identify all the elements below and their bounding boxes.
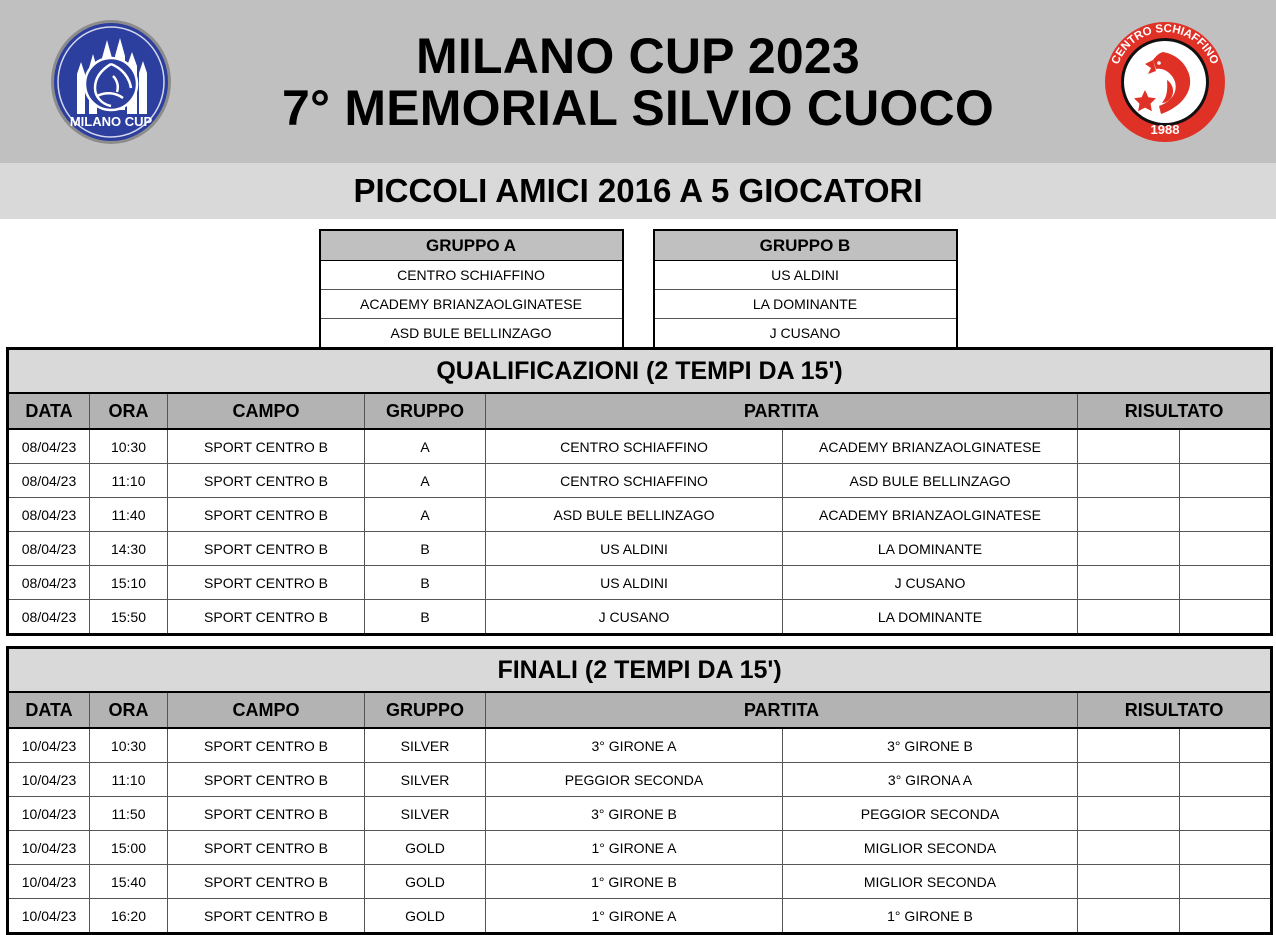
table-row: 08/04/23 15:10 SPORT CENTRO B B US ALDIN… <box>8 566 1272 600</box>
cell-campo: SPORT CENTRO B <box>168 532 365 566</box>
cell-campo: SPORT CENTRO B <box>168 728 365 763</box>
cell-home-team: PEGGIOR SECONDA <box>486 763 783 797</box>
cell-away-team: MIGLIOR SECONDA <box>783 865 1078 899</box>
group-a-team: ASD BULE BELLINZAGO <box>320 319 623 349</box>
cell-gruppo: SILVER <box>365 763 486 797</box>
cell-result-away[interactable] <box>1180 831 1272 865</box>
cell-home-team: 3° GIRONE B <box>486 797 783 831</box>
cell-home-team: 1° GIRONE B <box>486 865 783 899</box>
cell-home-team: ASD BULE BELLINZAGO <box>486 498 783 532</box>
cell-data: 08/04/23 <box>8 566 90 600</box>
cell-home-team: CENTRO SCHIAFFINO <box>486 464 783 498</box>
cell-ora: 15:00 <box>90 831 168 865</box>
table-row: 08/04/23 14:30 SPORT CENTRO B B US ALDIN… <box>8 532 1272 566</box>
cell-data: 08/04/23 <box>8 498 90 532</box>
cell-result-home[interactable] <box>1078 566 1180 600</box>
cell-result-away[interactable] <box>1180 566 1272 600</box>
cell-ora: 11:40 <box>90 498 168 532</box>
milano-cup-logo: MILANO CUP <box>47 18 175 146</box>
table-row: 10/04/23 10:30 SPORT CENTRO B SILVER 3° … <box>8 728 1272 763</box>
cell-gruppo: A <box>365 429 486 464</box>
cell-data: 08/04/23 <box>8 532 90 566</box>
col-campo: CAMPO <box>168 393 365 429</box>
table-row: 08/04/23 10:30 SPORT CENTRO B A CENTRO S… <box>8 429 1272 464</box>
cell-data: 10/04/23 <box>8 899 90 934</box>
cell-gruppo: A <box>365 498 486 532</box>
cell-ora: 14:30 <box>90 532 168 566</box>
col-gruppo: GRUPPO <box>365 393 486 429</box>
cell-away-team: LA DOMINANTE <box>783 532 1078 566</box>
cell-result-home[interactable] <box>1078 865 1180 899</box>
cell-campo: SPORT CENTRO B <box>168 464 365 498</box>
cell-data: 08/04/23 <box>8 429 90 464</box>
cell-away-team: 3° GIRONE B <box>783 728 1078 763</box>
col-ora: ORA <box>90 692 168 728</box>
table-row: 10/04/23 15:00 SPORT CENTRO B GOLD 1° GI… <box>8 831 1272 865</box>
cell-data: 10/04/23 <box>8 728 90 763</box>
table-row: 10/04/23 11:50 SPORT CENTRO B SILVER 3° … <box>8 797 1272 831</box>
cell-away-team: PEGGIOR SECONDA <box>783 797 1078 831</box>
col-campo: CAMPO <box>168 692 365 728</box>
cell-away-team: J CUSANO <box>783 566 1078 600</box>
group-a-team: CENTRO SCHIAFFINO <box>320 261 623 290</box>
cell-ora: 10:30 <box>90 728 168 763</box>
cell-campo: SPORT CENTRO B <box>168 865 365 899</box>
group-table-b: GRUPPO B US ALDINI LA DOMINANTE J CUSANO <box>653 229 958 349</box>
finali-rows: 10/04/23 10:30 SPORT CENTRO B SILVER 3° … <box>8 728 1272 934</box>
centro-schiaffino-crest: CENTRO SCHIAFFINO 1988 <box>1101 18 1229 146</box>
cell-result-home[interactable] <box>1078 831 1180 865</box>
col-risultato: RISULTATO <box>1078 393 1272 429</box>
cell-data: 08/04/23 <box>8 600 90 635</box>
table-row: 10/04/23 16:20 SPORT CENTRO B GOLD 1° GI… <box>8 899 1272 934</box>
cell-data: 10/04/23 <box>8 763 90 797</box>
cell-campo: SPORT CENTRO B <box>168 600 365 635</box>
cell-result-away[interactable] <box>1180 797 1272 831</box>
col-ora: ORA <box>90 393 168 429</box>
cell-result-away[interactable] <box>1180 464 1272 498</box>
table-row: 10/04/23 15:40 SPORT CENTRO B GOLD 1° GI… <box>8 865 1272 899</box>
cell-campo: SPORT CENTRO B <box>168 831 365 865</box>
qualificazioni-table: QUALIFICAZIONI (2 TEMPI DA 15') DATA ORA… <box>6 347 1273 636</box>
category-subtitle: PICCOLI AMICI 2016 A 5 GIOCATORI <box>353 172 922 210</box>
col-data: DATA <box>8 692 90 728</box>
cell-gruppo: B <box>365 600 486 635</box>
crest-year: 1988 <box>1151 122 1180 137</box>
cell-result-home[interactable] <box>1078 532 1180 566</box>
cell-home-team: CENTRO SCHIAFFINO <box>486 429 783 464</box>
col-risultato: RISULTATO <box>1078 692 1272 728</box>
group-a-header: GRUPPO A <box>320 230 623 261</box>
cell-away-team: MIGLIOR SECONDA <box>783 831 1078 865</box>
cell-result-away[interactable] <box>1180 600 1272 635</box>
cell-result-away[interactable] <box>1180 429 1272 464</box>
col-gruppo: GRUPPO <box>365 692 486 728</box>
cell-result-home[interactable] <box>1078 464 1180 498</box>
cell-result-away[interactable] <box>1180 728 1272 763</box>
cell-home-team: 3° GIRONE A <box>486 728 783 763</box>
col-data: DATA <box>8 393 90 429</box>
cell-away-team: ACADEMY BRIANZAOLGINATESE <box>783 429 1078 464</box>
groups-area: GRUPPO A CENTRO SCHIAFFINO ACADEMY BRIAN… <box>0 219 1276 347</box>
cell-campo: SPORT CENTRO B <box>168 429 365 464</box>
cell-home-team: US ALDINI <box>486 532 783 566</box>
cell-campo: SPORT CENTRO B <box>168 899 365 934</box>
table-row: 08/04/23 15:50 SPORT CENTRO B B J CUSANO… <box>8 600 1272 635</box>
qualificazioni-section: QUALIFICAZIONI (2 TEMPI DA 15') DATA ORA… <box>0 347 1276 636</box>
cell-result-home[interactable] <box>1078 763 1180 797</box>
cell-result-home[interactable] <box>1078 797 1180 831</box>
title-line-1: MILANO CUP 2023 <box>282 30 994 82</box>
finali-title: FINALI (2 TEMPI DA 15') <box>8 648 1272 693</box>
cell-away-team: LA DOMINANTE <box>783 600 1078 635</box>
finali-table: FINALI (2 TEMPI DA 15') DATA ORA CAMPO G… <box>6 646 1273 935</box>
cell-campo: SPORT CENTRO B <box>168 763 365 797</box>
cell-result-home[interactable] <box>1078 600 1180 635</box>
table-row: 08/04/23 11:10 SPORT CENTRO B A CENTRO S… <box>8 464 1272 498</box>
cell-gruppo: B <box>365 566 486 600</box>
cell-away-team: 3° GIRONA A <box>783 763 1078 797</box>
cell-gruppo: SILVER <box>365 728 486 763</box>
cell-home-team: 1° GIRONE A <box>486 831 783 865</box>
group-table-a: GRUPPO A CENTRO SCHIAFFINO ACADEMY BRIAN… <box>319 229 624 349</box>
cell-ora: 11:50 <box>90 797 168 831</box>
cell-result-away[interactable] <box>1180 532 1272 566</box>
header-banner: MILANO CUP MILANO CUP 2023 7° MEMORIAL S… <box>0 0 1276 163</box>
cell-gruppo: GOLD <box>365 865 486 899</box>
cell-home-team: 1° GIRONE A <box>486 899 783 934</box>
cell-ora: 15:10 <box>90 566 168 600</box>
group-b-team: J CUSANO <box>654 319 957 349</box>
group-b-team: US ALDINI <box>654 261 957 290</box>
cell-data: 10/04/23 <box>8 865 90 899</box>
finali-section: FINALI (2 TEMPI DA 15') DATA ORA CAMPO G… <box>0 646 1276 935</box>
table-row: 10/04/23 11:10 SPORT CENTRO B SILVER PEG… <box>8 763 1272 797</box>
cell-campo: SPORT CENTRO B <box>168 566 365 600</box>
category-subtitle-band: PICCOLI AMICI 2016 A 5 GIOCATORI <box>0 163 1276 219</box>
group-b-team: LA DOMINANTE <box>654 290 957 319</box>
cell-result-away[interactable] <box>1180 865 1272 899</box>
cell-away-team: 1° GIRONE B <box>783 899 1078 934</box>
cell-gruppo: GOLD <box>365 831 486 865</box>
cell-away-team: ASD BULE BELLINZAGO <box>783 464 1078 498</box>
cell-gruppo: SILVER <box>365 797 486 831</box>
cell-ora: 11:10 <box>90 464 168 498</box>
page-title: MILANO CUP 2023 7° MEMORIAL SILVIO CUOCO <box>282 30 994 134</box>
cell-ora: 15:50 <box>90 600 168 635</box>
qualificazioni-title: QUALIFICAZIONI (2 TEMPI DA 15') <box>8 349 1272 394</box>
title-line-2: 7° MEMORIAL SILVIO CUOCO <box>282 82 994 134</box>
cell-result-away[interactable] <box>1180 498 1272 532</box>
cell-home-team: US ALDINI <box>486 566 783 600</box>
cell-home-team: J CUSANO <box>486 600 783 635</box>
cell-data: 08/04/23 <box>8 464 90 498</box>
col-partita: PARTITA <box>486 692 1078 728</box>
cell-data: 10/04/23 <box>8 831 90 865</box>
cell-campo: SPORT CENTRO B <box>168 797 365 831</box>
col-partita: PARTITA <box>486 393 1078 429</box>
cell-result-home[interactable] <box>1078 728 1180 763</box>
cell-result-away[interactable] <box>1180 899 1272 934</box>
table-row: 08/04/23 11:40 SPORT CENTRO B A ASD BULE… <box>8 498 1272 532</box>
milano-cup-logo-text: MILANO CUP <box>70 114 153 129</box>
cell-gruppo: A <box>365 464 486 498</box>
cell-ora: 15:40 <box>90 865 168 899</box>
cell-result-home[interactable] <box>1078 899 1180 934</box>
cell-result-home[interactable] <box>1078 498 1180 532</box>
cell-result-away[interactable] <box>1180 763 1272 797</box>
group-b-header: GRUPPO B <box>654 230 957 261</box>
cell-gruppo: GOLD <box>365 899 486 934</box>
cell-campo: SPORT CENTRO B <box>168 498 365 532</box>
qualificazioni-rows: 08/04/23 10:30 SPORT CENTRO B A CENTRO S… <box>8 429 1272 635</box>
cell-ora: 16:20 <box>90 899 168 934</box>
cell-data: 10/04/23 <box>8 797 90 831</box>
cell-ora: 11:10 <box>90 763 168 797</box>
cell-ora: 10:30 <box>90 429 168 464</box>
group-a-team: ACADEMY BRIANZAOLGINATESE <box>320 290 623 319</box>
cell-result-home[interactable] <box>1078 429 1180 464</box>
cell-away-team: ACADEMY BRIANZAOLGINATESE <box>783 498 1078 532</box>
cell-gruppo: B <box>365 532 486 566</box>
